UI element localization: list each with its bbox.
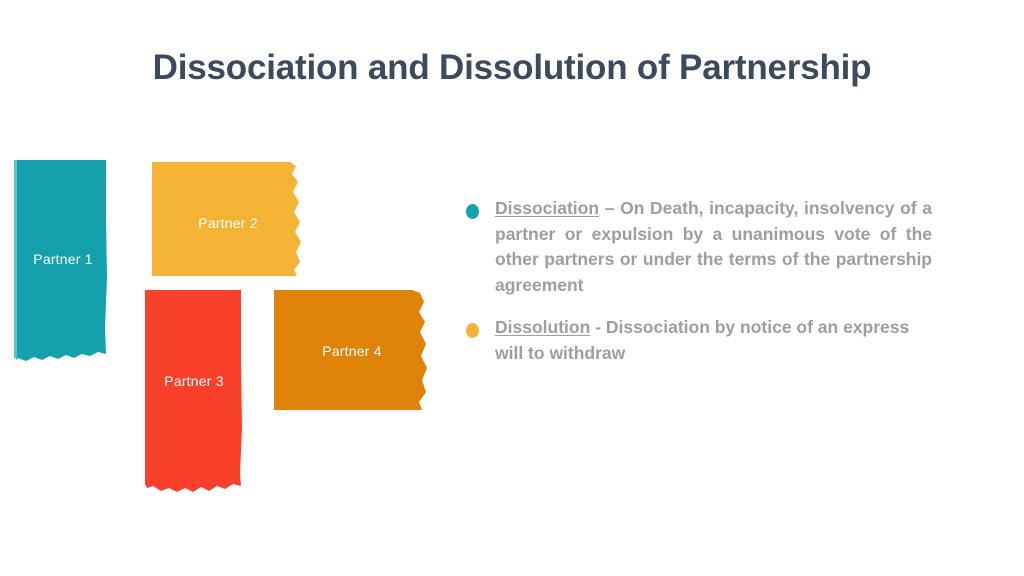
partner-block-2: Partner 2 [150,160,306,280]
bullet-list: Dissociation – On Death, incapacity, ins… [462,196,932,383]
partner-block-1: Partner 1 [14,158,112,368]
bullet-item-dissolution: Dissolution - Dissociation by notice of … [462,315,932,366]
torn-paper-shape-1 [14,158,112,368]
torn-paper-shape-3 [143,288,245,496]
bullet-text-dissolution: Dissolution - Dissociation by notice of … [495,315,932,366]
bullet-term-dissociation: Dissociation [495,198,599,218]
partner-block-3: Partner 3 [143,288,245,496]
bullet-text-dissociation: Dissociation – On Death, incapacity, ins… [495,196,932,298]
partner-block-4: Partner 4 [272,288,432,416]
partner-blocks-group: Partner 1 Partner 2 Partner 3 Partner 4 [0,0,470,576]
bullet-term-dissolution: Dissolution [495,317,590,337]
bullet-item-dissociation: Dissociation – On Death, incapacity, ins… [462,196,932,298]
torn-paper-shape-4 [272,288,432,416]
torn-paper-shape-2 [150,160,306,280]
bullet-dot-icon [466,204,479,219]
slide-canvas: Dissociation and Dissolution of Partners… [0,0,1024,576]
bullet-dot-icon [466,323,479,338]
